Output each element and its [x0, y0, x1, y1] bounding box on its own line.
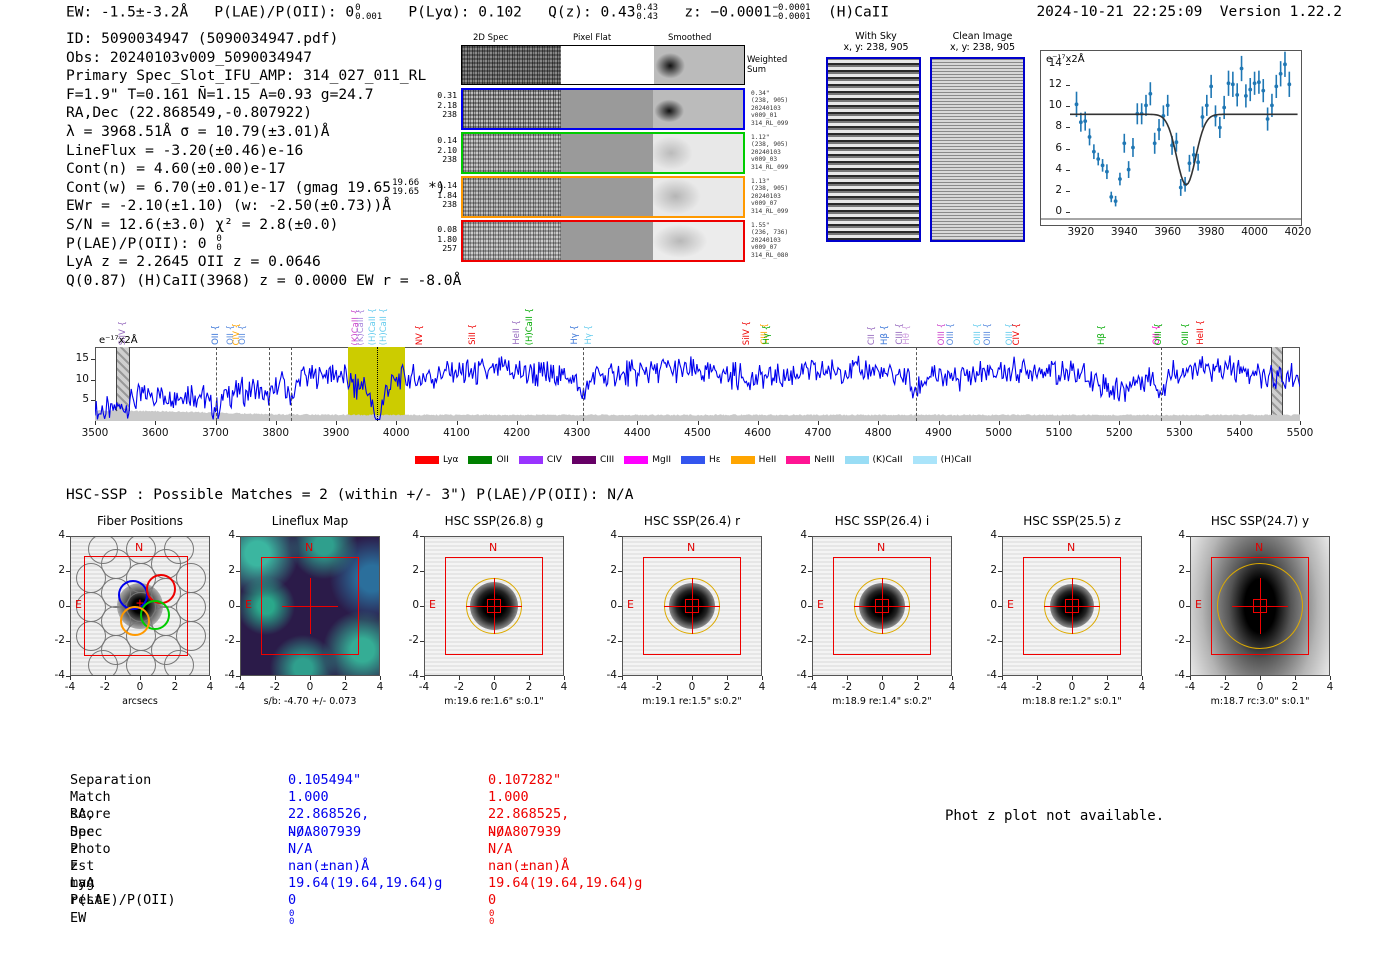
match-label-7: P(LAE)/P(OII): [70, 892, 176, 909]
panel-title-2: HSC SSP(26.8) g: [398, 514, 590, 528]
legend-swatch-Hε: [681, 456, 705, 464]
spectrum-xtick: 3700: [191, 427, 241, 439]
panel-1-ytick: -2: [216, 634, 235, 646]
panel-4-ytick: 4: [788, 529, 807, 541]
compass-east-4: E: [817, 598, 824, 611]
panel-1-xtick: -2: [263, 681, 287, 693]
spectrum-marker-4: [583, 347, 584, 421]
fiber-4-obs: v009_07: [751, 244, 797, 251]
match2-value-7: 000: [488, 892, 496, 927]
fiber-2-values: 0.14 2.10 238: [429, 136, 457, 165]
panel-2-ytick: 2: [400, 564, 419, 576]
fiber-2-dist: 1.12": [751, 134, 797, 141]
compass-east-2: E: [429, 598, 436, 611]
info-obs: Obs: 20240103v009_5090034947: [66, 49, 461, 68]
clean-image-title: Clean Image x, y: 238, 905: [930, 31, 1035, 53]
match1-value-5: nan(±nan)Å: [288, 858, 369, 875]
center-plus-marker: +: [136, 596, 144, 611]
fiber-3-dist: 1.13": [751, 178, 797, 185]
header-z-value: −0.0001: [711, 5, 772, 21]
header-z-label: z:: [684, 5, 701, 21]
panel-0-xtick: 4: [198, 681, 222, 693]
panel-0-xtick: -4: [58, 681, 82, 693]
spectrum-line-label-35: HeII {: [1196, 320, 1206, 345]
spectrum-line-label-25: OIII {: [937, 323, 947, 345]
compass-east-3: E: [627, 598, 634, 611]
spectrum-xtick: 4900: [914, 427, 964, 439]
fiber-3-amp: 314_RL_099: [751, 208, 797, 215]
fiber-2-obs: v009_03: [751, 156, 797, 163]
compass-east-5: E: [1007, 598, 1014, 611]
match2-value-1: 1.000: [488, 789, 529, 806]
spectrum-xtick: 5200: [1094, 427, 1144, 439]
linefit-xtick: 3920: [1061, 226, 1101, 238]
panel-0-xtick: 2: [163, 681, 187, 693]
panel-0-ytick: 4: [46, 529, 65, 541]
panel-1-ytick: 2: [216, 564, 235, 576]
spectrum-xtick: 5400: [1215, 427, 1265, 439]
panel-4-xtick: 0: [870, 681, 894, 693]
fiber-strip-1: [461, 88, 745, 130]
panel-footer-1: s/b: -4.70 +/- 0.073: [210, 696, 410, 707]
spectrum-line-label-8: (H)CaII {: [368, 308, 378, 345]
panel-6-ytick: -2: [1166, 634, 1185, 646]
spectrum-xtick: 4500: [673, 427, 723, 439]
fiber-3-date: 20240103: [751, 193, 797, 200]
panel-0-xtick: -2: [93, 681, 117, 693]
photoz-unavailable-note: Phot z plot not available.: [945, 808, 1164, 824]
spectrum-line-label-22: Hβ {: [880, 325, 890, 345]
fiber-4-dist: 1.55": [751, 222, 797, 229]
col-title-pixelflat: Pixel Flat: [573, 33, 611, 43]
clean-image-xy: x, y: 238, 905: [950, 42, 1015, 53]
spectrum-line-label-34: OIII {: [1181, 323, 1191, 345]
legend-item-(H)CaII: (H)CaII: [913, 455, 972, 465]
match-label-6: mag: [70, 875, 94, 892]
linefit-xtick: 4000: [1235, 226, 1275, 238]
panel-3-ytick: 2: [598, 564, 617, 576]
linefit-ytick: 0: [1036, 205, 1062, 217]
panel-2-xtick: 4: [552, 681, 576, 693]
info-params: F=1.9" T=0.161 N̄=1.15 A=0.93 g=24.7: [66, 86, 461, 105]
header-plae-value: 0: [345, 5, 354, 21]
panel-6-ytick: 0: [1166, 599, 1185, 611]
spectrum-marker-0: [216, 347, 217, 421]
match1-value-6: 19.64(19.64,19.64)g: [288, 875, 442, 892]
legend-label-Hε: Hε: [709, 455, 721, 465]
legend-item-(K)CaII: (K)CaII: [845, 455, 903, 465]
panel-3-ytick: 4: [598, 529, 617, 541]
panel-title-6: HSC SSP(24.7) y: [1164, 514, 1356, 528]
info-cont-w: Cont(w) = 6.70(±0.01)e-17 (gmag 19.6519.…: [66, 179, 461, 198]
panel-5-xtick: 0: [1060, 681, 1084, 693]
linefit-ytick: 2: [1036, 184, 1062, 196]
fiber-1-note: 0.34" (238, 905) 20240103 v009_01 314_RL…: [751, 90, 797, 127]
header-plae-sub: 0.001: [355, 12, 382, 22]
header-qz-value: 0.43: [601, 5, 636, 21]
center-marker-2: [487, 599, 501, 613]
match1-value-7: 000: [288, 892, 296, 927]
panel-6-ytick: 4: [1166, 529, 1185, 541]
header-plya-value: 0.102: [478, 5, 522, 21]
spectrum-line-label-5: OII {: [238, 325, 248, 345]
spectrum-line-label-28: OIII {: [983, 323, 993, 345]
hsc-section-header: HSC-SSP : Possible Matches = 2 (within +…: [66, 487, 633, 503]
center-marker-6: [1253, 599, 1267, 613]
legend-item-CIV: CIV: [519, 455, 562, 465]
spectrum-line-label-15: Hγ {: [570, 325, 580, 345]
timestamp-version: 2024-10-21 22:25:09 Version 1.22.2: [1036, 4, 1342, 20]
panel-2-ytick: -2: [400, 634, 419, 646]
legend-swatch-Lyα: [415, 456, 439, 464]
panel-1-xtick: -4: [228, 681, 252, 693]
panel-2-ytick: 0: [400, 599, 419, 611]
weighted-sum-line1: Weighted: [747, 55, 787, 65]
match1-value-4: N/A: [288, 841, 312, 858]
spectrum-line-label-16: Hγ {: [584, 325, 594, 345]
linefit-ytick: 8: [1036, 120, 1062, 132]
legend-label-CIV: CIV: [547, 455, 562, 465]
match2-value-6: 19.64(19.64,19.64)g: [488, 875, 642, 892]
compass-east-1: E: [245, 598, 252, 611]
header-plya-label: P(Lyα):: [408, 5, 469, 21]
legend-swatch-(K)CaII: [845, 456, 869, 464]
fiber-1-amp: 314_RL_099: [751, 120, 797, 127]
panel-title-1: Lineflux Map: [214, 514, 406, 528]
spectrum-xtick: 5000: [974, 427, 1024, 439]
spectrum-line-label-20: CII {: [867, 326, 877, 345]
header-qz-label: Q(z):: [548, 5, 592, 21]
fiber-1-date: 20240103: [751, 105, 797, 112]
legend-swatch-CIV: [519, 456, 543, 464]
panel-0-ytick: 0: [46, 599, 65, 611]
legend-label-OII: OII: [496, 455, 508, 465]
legend-label-NeIII: NeIII: [814, 455, 834, 465]
legend-label-CIII: CIII: [600, 455, 614, 465]
panel-0-ytick: -2: [46, 634, 65, 646]
header-line-id: (H)CaII: [828, 5, 889, 21]
legend-item-MgII: MgII: [624, 455, 671, 465]
spectrum-line-label-31: Hβ {: [1097, 325, 1107, 345]
legend-swatch-CIII: [572, 456, 596, 464]
spectrum-xtick: 4200: [492, 427, 542, 439]
info-plae-pre: P(LAE)/P(OII): 0: [66, 235, 207, 252]
panel-title-0: Fiber Positions: [44, 514, 236, 528]
panel-3-ytick: -2: [598, 634, 617, 646]
spectrum-line-label-2: OII {: [211, 325, 221, 345]
fiber-4-date: 20240103: [751, 237, 797, 244]
compass-north-1: N: [305, 541, 313, 554]
panel-0-xtick: 0: [128, 681, 152, 693]
panel-6-xtick: 2: [1283, 681, 1307, 693]
panel-5-xtick: 4: [1130, 681, 1154, 693]
panel-title-4: HSC SSP(26.4) i: [786, 514, 978, 528]
panel-3-xtick: 4: [750, 681, 774, 693]
spectrum-xtick: 4700: [793, 427, 843, 439]
fiber-1-obs: v009_01: [751, 112, 797, 119]
panel-1-ytick: 0: [216, 599, 235, 611]
match1-value-0: 0.105494": [288, 772, 361, 789]
spectrum-line-label-11: SiII {: [468, 324, 478, 345]
panel-6-xtick: -2: [1213, 681, 1237, 693]
panel-6-xtick: 0: [1248, 681, 1272, 693]
fiber-4-xy: (236, 736): [751, 229, 797, 236]
panel-1-xtick: 2: [333, 681, 357, 693]
info-primary-spec: Primary Spec_Slot_IFU_AMP: 314_027_011_R…: [66, 67, 461, 86]
panel-4-xtick: 2: [905, 681, 929, 693]
linefit-xtick: 4020: [1278, 226, 1318, 238]
fiber-1-x: 238: [429, 110, 457, 120]
match2-value-5: nan(±nan)Å: [488, 858, 569, 875]
spectrum-legend: LyαOIICIVCIIIMgIIHεHeIINeIII(K)CaII(H)Ca…: [415, 455, 971, 465]
panel-4-xtick: -2: [835, 681, 859, 693]
2d-spectra-block: 2D Spec Pixel Flat Smoothed Weighted Sum…: [425, 33, 785, 255]
spectrum-ytick: 10: [63, 373, 89, 385]
with-sky-title: With Sky x, y: 238, 905: [826, 31, 926, 53]
panel-3-xtick: 0: [680, 681, 704, 693]
panel-2-xtick: 0: [482, 681, 506, 693]
legend-item-CIII: CIII: [572, 455, 614, 465]
panel-6-xtick: -4: [1178, 681, 1202, 693]
fiber-2-x: 238: [429, 155, 457, 165]
match2-value-0: 0.107282": [488, 772, 561, 789]
legend-label-(H)CaII: (H)CaII: [941, 455, 972, 465]
panel-1-xtick: 4: [368, 681, 392, 693]
fiber-1-values: 0.31 2.18 238: [429, 91, 457, 120]
center-marker-3: [685, 599, 699, 613]
legend-label-(K)CaII: (K)CaII: [873, 455, 903, 465]
crosshair-vertical-1: [310, 578, 311, 634]
legend-label-HeII: HeII: [759, 455, 777, 465]
panel-4-ytick: 0: [788, 599, 807, 611]
spectrum-ytick: 15: [63, 352, 89, 364]
spectrum-line-label-27: OIII {: [973, 323, 983, 345]
spectrum-xtick: 5500: [1275, 427, 1325, 439]
legend-label-MgII: MgII: [652, 455, 671, 465]
center-marker-5: [1065, 599, 1079, 613]
header-qz-sub: 0.43: [636, 12, 658, 22]
weighted-sum-label: Weighted Sum: [747, 55, 787, 75]
legend-label-Lyα: Lyα: [443, 455, 458, 465]
info-lineflux: LineFlux = -3.20(±0.46)e-16: [66, 142, 461, 161]
legend-item-HeII: HeII: [731, 455, 777, 465]
panel-footer-2: m:19.6 re:1.6" s:0.1": [394, 696, 594, 707]
panel-0-ytick: 2: [46, 564, 65, 576]
spectrum-xtick: 3900: [311, 427, 361, 439]
panel-5-ytick: 0: [978, 599, 997, 611]
legend-swatch-HeII: [731, 456, 755, 464]
spectrum-line-label-17: SiIV {: [742, 321, 752, 345]
panel-5-ytick: -2: [978, 634, 997, 646]
panel-2-ytick: -4: [400, 669, 419, 681]
spectrum-xtick: 4300: [552, 427, 602, 439]
spectrum-line-label-33: OIII {: [1154, 323, 1164, 345]
spectrum-xtick: 3600: [130, 427, 180, 439]
panel-3-xtick: 2: [715, 681, 739, 693]
fiber-4-note: 1.55" (236, 736) 20240103 v009_07 314_RL…: [751, 222, 797, 259]
panel-footer-3: m:19.1 re:1.5" s:0.2": [592, 696, 792, 707]
info-redshifts: LyA z = 2.2645 OII z = 0.0646: [66, 253, 461, 272]
header-plae-label: P(LAE)/P(OII):: [214, 5, 336, 21]
spectrum-xtick: 4000: [371, 427, 421, 439]
compass-east-6: E: [1195, 598, 1202, 611]
info-plae-sub: 0: [216, 243, 221, 253]
panel-footer-6: m:18.7 rc:3.0" s:0.1": [1160, 696, 1360, 707]
linefit-ytick: 4: [1036, 163, 1062, 175]
fiber-2-date: 20240103: [751, 149, 797, 156]
compass-north-4: N: [877, 541, 885, 554]
spectrum-xtick: 4100: [432, 427, 482, 439]
spectrum-line-label-9: (H)CaII {: [379, 308, 389, 345]
spectrum-line-label-24: Hθ {: [902, 325, 912, 345]
info-cont-w-pre: Cont(w) = 6.70(±0.01)e-17 (gmag 19.65: [66, 179, 391, 196]
legend-swatch-MgII: [624, 456, 648, 464]
match1-value-1: 1.000: [288, 789, 329, 806]
panel-6-ytick: 2: [1166, 564, 1185, 576]
fiber-4-values: 0.08 1.80 257: [429, 225, 457, 254]
panel-4-ytick: -2: [788, 634, 807, 646]
fiber-3-xy: (238, 905): [751, 185, 797, 192]
panel-4-ytick: 2: [788, 564, 807, 576]
header-summary-line: EW: -1.5±-3.2Å P(LAE)/P(OII): 000.001 P(…: [66, 4, 889, 21]
panel-1-ytick: -4: [216, 669, 235, 681]
spectrum-ytick: 5: [63, 393, 89, 405]
panel-1-ytick: 4: [216, 529, 235, 541]
info-id: ID: 5090034947 (5090034947.pdf): [66, 30, 461, 49]
panel-1-xtick: 0: [298, 681, 322, 693]
panel-0-ytick: -4: [46, 669, 65, 681]
clean-image-label: Clean Image: [953, 31, 1013, 42]
panel-3-ytick: -4: [598, 669, 617, 681]
line-fit-plot: e⁻¹⁷x2Å 02468101214 39203940396039804000…: [1040, 50, 1302, 226]
panel-title-5: HSC SSP(25.5) z: [976, 514, 1168, 528]
info-radec: RA,Dec (22.868549,-0.807922): [66, 104, 461, 123]
panel-2-xtick: -2: [447, 681, 471, 693]
spectrum-marker-5: [916, 347, 917, 421]
info-cont-n: Cont(n) = 4.60(±0.00)e-17: [66, 160, 461, 179]
panel-5-xtick: 2: [1095, 681, 1119, 693]
info-cont-w-sub: 19.65: [392, 187, 419, 197]
spectrum-line-label-19: Hγ {: [762, 325, 772, 345]
panel-footer-5: m:18.8 re:1.2" s:0.1": [972, 696, 1172, 707]
spectrum-marker-3: [377, 347, 378, 421]
spectrum-xtick: 4600: [733, 427, 783, 439]
linefit-ytick: 12: [1036, 78, 1062, 90]
panel-5-ytick: 2: [978, 564, 997, 576]
spectrum-marker-6: [1161, 347, 1162, 421]
spectrum-xtick: 4400: [612, 427, 662, 439]
linefit-xtick: 3940: [1104, 226, 1144, 238]
compass-east-0: E: [75, 598, 82, 611]
fiber-4-x: 257: [429, 244, 457, 254]
timestamp-text: 2024-10-21 22:25:09: [1036, 4, 1202, 20]
fiber-3-values: 0.14 1.84 238: [429, 181, 457, 210]
panel-6-xtick: 4: [1318, 681, 1342, 693]
info-sn-chi2: S/N = 12.6(±3.0) χ² = 2.8(±0.0): [66, 216, 461, 235]
fiber-2-amp: 314_RL_099: [751, 164, 797, 171]
legend-swatch-NeIII: [786, 456, 810, 464]
spectrum-flux-annotation: e⁻¹⁷x2Å: [99, 335, 138, 346]
panel-2-ytick: 4: [400, 529, 419, 541]
spectrum-xtick: 4800: [853, 427, 903, 439]
with-sky-xy: x, y: 238, 905: [843, 42, 908, 53]
linefit-xtick: 3960: [1148, 226, 1188, 238]
compass-north-5: N: [1067, 541, 1075, 554]
spectrum-line-label-7: (K)CaII {: [356, 309, 366, 345]
fiber-3-note: 1.13" (238, 905) 20240103 v009_07 314_RL…: [751, 178, 797, 215]
legend-item-NeIII: NeIII: [786, 455, 834, 465]
panel-footer-4: m:18.9 re:1.4" s:0.2": [782, 696, 982, 707]
with-sky-cutout: [826, 57, 921, 242]
col-title-2dspec: 2D Spec: [473, 33, 508, 43]
spectrum-xtick: 3800: [251, 427, 301, 439]
spectrum-marker-1: [269, 347, 270, 421]
panel-5-ytick: -4: [978, 669, 997, 681]
version-text: Version 1.22.2: [1220, 4, 1342, 20]
panel-3-ytick: 0: [598, 599, 617, 611]
legend-item-OII: OII: [468, 455, 508, 465]
match2-value-4: N/A: [488, 841, 512, 858]
info-plae: P(LAE)/P(OII): 0 00: [66, 235, 461, 254]
legend-item-Hε: Hε: [681, 455, 721, 465]
match1-value-3: N/A: [288, 824, 312, 841]
panel-3-xtick: -4: [610, 681, 634, 693]
panel-4-xtick: 4: [940, 681, 964, 693]
header-z-sub: −0.0001: [773, 12, 811, 22]
panel-3-xtick: -2: [645, 681, 669, 693]
spectrum-xtick: 5100: [1034, 427, 1084, 439]
spectrum-line-label-10: NV {: [415, 325, 425, 345]
fiber-1-xy: (238, 905): [751, 97, 797, 104]
detection-info-block: ID: 5090034947 (5090034947.pdf) Obs: 202…: [66, 30, 461, 290]
fiber-2-xy: (238, 905): [751, 141, 797, 148]
weighted-sum-strip: [461, 45, 745, 85]
linefit-ytick: 14: [1036, 57, 1062, 69]
match2-value-3: N/A: [488, 824, 512, 841]
spectrum-xtick: 3500: [70, 427, 120, 439]
spectrum-line-label-30: CIV {: [1012, 323, 1022, 345]
fiber-strip-2: [461, 132, 745, 174]
col-title-smoothed: Smoothed: [668, 33, 711, 43]
fiber-strip-4: [461, 220, 745, 262]
panel-5-ytick: 4: [978, 529, 997, 541]
fiber-1-dist: 0.34": [751, 90, 797, 97]
legend-swatch-(H)CaII: [913, 456, 937, 464]
header-ew: EW: -1.5±-3.2Å: [66, 5, 188, 21]
spectrum-line-label-12: HeII {: [512, 320, 522, 345]
spectrum-marker-2: [291, 347, 292, 421]
compass-north-0: N: [135, 541, 143, 554]
legend-swatch-OII: [468, 456, 492, 464]
spectrum-dashed-markers: [95, 347, 1300, 421]
panel-4-xtick: -4: [800, 681, 824, 693]
linefit-ytick: 6: [1036, 142, 1062, 154]
clean-image-cutout: [930, 57, 1025, 242]
panel-2-xtick: -4: [412, 681, 436, 693]
center-marker-4: [875, 599, 889, 613]
linefit-ytick: 10: [1036, 99, 1062, 111]
with-sky-label: With Sky: [855, 31, 896, 42]
compass-north-3: N: [687, 541, 695, 554]
linefit-xtick: 3980: [1191, 226, 1231, 238]
fiber-4-amp: 314_RL_080: [751, 252, 797, 259]
panel-2-xtick: 2: [517, 681, 541, 693]
spectrum-line-label-13: (H)CaII {: [525, 308, 535, 345]
info-ewr: EWr = -2.10(±1.10) (w: -2.50(±0.73))Å: [66, 197, 461, 216]
fiber-3-x: 238: [429, 200, 457, 210]
fiber-3-obs: v009_07: [751, 200, 797, 207]
linefit-svg: [1040, 50, 1302, 226]
